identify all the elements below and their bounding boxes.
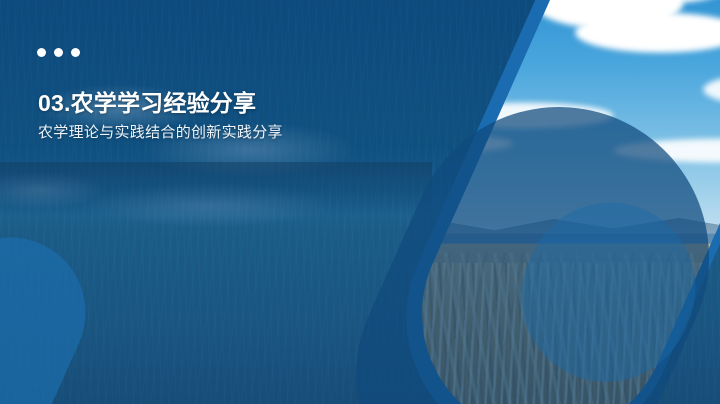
decorative-dots — [37, 48, 80, 57]
slide-subtitle: 农学理论与实践结合的创新实践分享 — [38, 122, 378, 144]
dot-icon — [37, 48, 46, 57]
presentation-slide: 03.农学学习经验分享 农学理论与实践结合的创新实践分享 — [0, 0, 720, 404]
background-mountains — [0, 162, 432, 219]
slide-title: 03.农学学习经验分享 — [38, 88, 378, 118]
dot-icon — [54, 48, 63, 57]
slide-text-block: 03.农学学习经验分享 农学理论与实践结合的创新实践分享 — [38, 88, 378, 144]
dot-icon — [71, 48, 80, 57]
